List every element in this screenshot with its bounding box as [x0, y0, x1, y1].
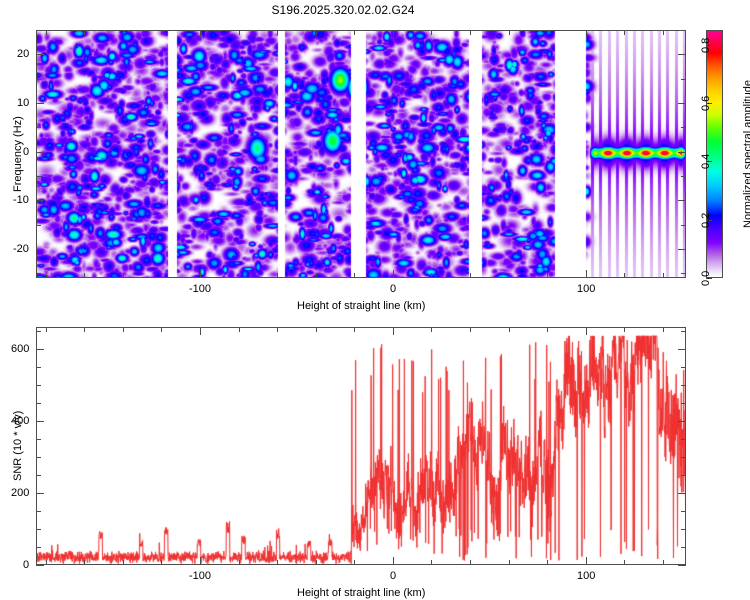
- y-tick-major-right: [678, 493, 686, 494]
- y-tick-major: [36, 493, 44, 494]
- x-tick-minor-top: [663, 327, 664, 332]
- y-tick-major-right: [678, 421, 686, 422]
- x-tick-minor-top: [239, 327, 240, 332]
- y-tick-minor: [36, 273, 41, 274]
- x-tick-minor-top: [277, 327, 278, 332]
- y-tick-minor-right: [681, 511, 686, 512]
- x-tick-minor: [547, 560, 548, 565]
- y-tick-minor: [36, 30, 41, 31]
- x-tick-minor: [277, 273, 278, 278]
- y-tick-minor: [36, 331, 41, 332]
- snr-panel: [36, 327, 686, 565]
- spectrogram-image: [37, 31, 686, 278]
- y-tick-minor-right: [681, 403, 686, 404]
- x-tick-minor: [624, 273, 625, 278]
- y-tick-label: 0: [23, 559, 29, 571]
- snr-x-axis-label: Height of straight line (km): [297, 587, 425, 599]
- x-tick-minor-top: [161, 30, 162, 35]
- x-tick-minor: [46, 560, 47, 565]
- y-tick-minor: [36, 457, 41, 458]
- y-tick-minor-right: [681, 30, 686, 31]
- x-tick-major: [586, 557, 587, 565]
- x-tick-label: 0: [390, 570, 396, 582]
- x-tick-minor-top: [470, 30, 471, 35]
- x-tick-minor: [239, 273, 240, 278]
- y-tick-major-right: [678, 565, 686, 566]
- x-tick-label: -100: [189, 570, 211, 582]
- y-tick-minor: [36, 529, 41, 530]
- y-tick-minor: [36, 367, 41, 368]
- x-tick-minor: [84, 273, 85, 278]
- y-tick-label: 20: [17, 48, 29, 60]
- x-tick-minor-top: [123, 327, 124, 332]
- x-tick-major: [393, 557, 394, 565]
- x-tick-label: -100: [189, 283, 211, 295]
- y-tick-label: 600: [11, 343, 29, 355]
- x-tick-minor-top: [354, 327, 355, 332]
- x-tick-minor: [431, 560, 432, 565]
- y-tick-label: -10: [13, 194, 29, 206]
- y-tick-minor-right: [681, 529, 686, 530]
- x-tick-minor: [509, 273, 510, 278]
- x-tick-minor: [470, 273, 471, 278]
- x-tick-minor-top: [547, 327, 548, 332]
- y-tick-minor: [36, 79, 41, 80]
- x-tick-major-top: [586, 327, 587, 335]
- x-tick-major-top: [393, 30, 394, 38]
- x-tick-minor-top: [123, 30, 124, 35]
- colorbar-tick-label: 0.0: [700, 270, 712, 285]
- y-tick-minor-right: [681, 176, 686, 177]
- x-tick-minor: [161, 273, 162, 278]
- x-tick-minor: [46, 273, 47, 278]
- x-tick-minor: [354, 273, 355, 278]
- x-tick-minor-top: [316, 30, 317, 35]
- colorbar-tick-label: 0.4: [700, 153, 712, 168]
- x-tick-minor-top: [509, 327, 510, 332]
- y-tick-minor-right: [681, 79, 686, 80]
- y-tick-major: [36, 152, 44, 153]
- x-tick-minor: [123, 273, 124, 278]
- spectrogram-y-axis-label: Frequency (Hz): [12, 116, 24, 192]
- y-tick-minor: [36, 403, 41, 404]
- x-tick-minor: [663, 273, 664, 278]
- x-tick-minor: [316, 560, 317, 565]
- x-tick-minor-top: [470, 327, 471, 332]
- x-tick-minor-top: [239, 30, 240, 35]
- x-tick-minor: [547, 273, 548, 278]
- y-tick-minor: [36, 511, 41, 512]
- y-tick-major: [36, 200, 44, 201]
- y-tick-minor: [36, 439, 41, 440]
- x-tick-minor-top: [509, 30, 510, 35]
- y-tick-minor-right: [681, 367, 686, 368]
- x-tick-major-top: [200, 30, 201, 38]
- y-tick-minor: [36, 127, 41, 128]
- colorbar-tick-label: 0.6: [700, 95, 712, 110]
- spectrogram-x-axis-label: Height of straight line (km): [297, 300, 425, 312]
- x-tick-major: [586, 270, 587, 278]
- x-tick-major-top: [200, 327, 201, 335]
- y-tick-major-right: [678, 103, 686, 104]
- x-tick-major: [200, 270, 201, 278]
- y-tick-major-right: [678, 54, 686, 55]
- y-tick-minor: [36, 176, 41, 177]
- x-tick-label: 0: [390, 283, 396, 295]
- figure-root: S196.2025.320.02.02.G24 -1000100-20-1001…: [0, 0, 750, 600]
- colorbar-label: Normalized spectral amplitude: [742, 80, 750, 228]
- x-tick-minor-top: [46, 327, 47, 332]
- y-tick-major-right: [678, 249, 686, 250]
- x-tick-minor-top: [46, 30, 47, 35]
- x-tick-minor-top: [354, 30, 355, 35]
- x-tick-minor: [663, 560, 664, 565]
- x-tick-minor-top: [663, 30, 664, 35]
- y-tick-minor-right: [681, 547, 686, 548]
- y-tick-minor-right: [681, 273, 686, 274]
- y-tick-major: [36, 103, 44, 104]
- y-tick-major: [36, 421, 44, 422]
- y-tick-major-right: [678, 349, 686, 350]
- page-title: S196.2025.320.02.02.G24: [0, 3, 686, 17]
- colorbar-tick-label: 0.8: [700, 37, 712, 52]
- spectrogram-panel: [36, 30, 686, 278]
- y-tick-minor-right: [681, 385, 686, 386]
- y-tick-major: [36, 565, 44, 566]
- x-tick-major: [200, 557, 201, 565]
- y-tick-minor: [36, 385, 41, 386]
- x-tick-minor: [239, 560, 240, 565]
- x-tick-minor: [470, 560, 471, 565]
- y-tick-major-right: [678, 200, 686, 201]
- x-tick-minor-top: [316, 327, 317, 332]
- y-tick-minor-right: [681, 457, 686, 458]
- y-tick-major: [36, 249, 44, 250]
- y-tick-minor-right: [681, 225, 686, 226]
- x-tick-minor-top: [84, 327, 85, 332]
- x-tick-minor: [354, 560, 355, 565]
- y-tick-minor: [36, 547, 41, 548]
- x-tick-minor: [624, 560, 625, 565]
- x-tick-major-top: [586, 30, 587, 38]
- y-tick-minor: [36, 475, 41, 476]
- x-tick-major: [393, 270, 394, 278]
- x-tick-label: 100: [577, 283, 595, 295]
- snr-y-axis-label: SNR (10 * v/v): [12, 411, 24, 481]
- snr-trace: [37, 328, 686, 565]
- x-tick-minor: [161, 560, 162, 565]
- x-tick-minor-top: [161, 327, 162, 332]
- y-tick-major-right: [678, 152, 686, 153]
- y-tick-label: 200: [11, 487, 29, 499]
- x-tick-minor: [123, 560, 124, 565]
- x-tick-minor-top: [84, 30, 85, 35]
- x-tick-minor-top: [431, 30, 432, 35]
- y-tick-major: [36, 54, 44, 55]
- x-tick-minor-top: [547, 30, 548, 35]
- x-tick-minor: [277, 560, 278, 565]
- y-tick-label: 10: [17, 97, 29, 109]
- y-tick-minor-right: [681, 475, 686, 476]
- x-tick-minor: [509, 560, 510, 565]
- y-tick-major: [36, 349, 44, 350]
- y-tick-minor-right: [681, 439, 686, 440]
- y-tick-minor-right: [681, 331, 686, 332]
- x-tick-major-top: [393, 327, 394, 335]
- y-tick-minor: [36, 225, 41, 226]
- x-tick-minor-top: [431, 327, 432, 332]
- y-tick-label: -20: [13, 243, 29, 255]
- x-tick-minor-top: [624, 327, 625, 332]
- x-tick-minor: [431, 273, 432, 278]
- x-tick-minor: [316, 273, 317, 278]
- x-tick-label: 100: [577, 570, 595, 582]
- x-tick-minor-top: [277, 30, 278, 35]
- y-tick-minor-right: [681, 127, 686, 128]
- x-tick-minor: [84, 560, 85, 565]
- colorbar-tick-label: 0.2: [700, 212, 712, 227]
- x-tick-minor-top: [624, 30, 625, 35]
